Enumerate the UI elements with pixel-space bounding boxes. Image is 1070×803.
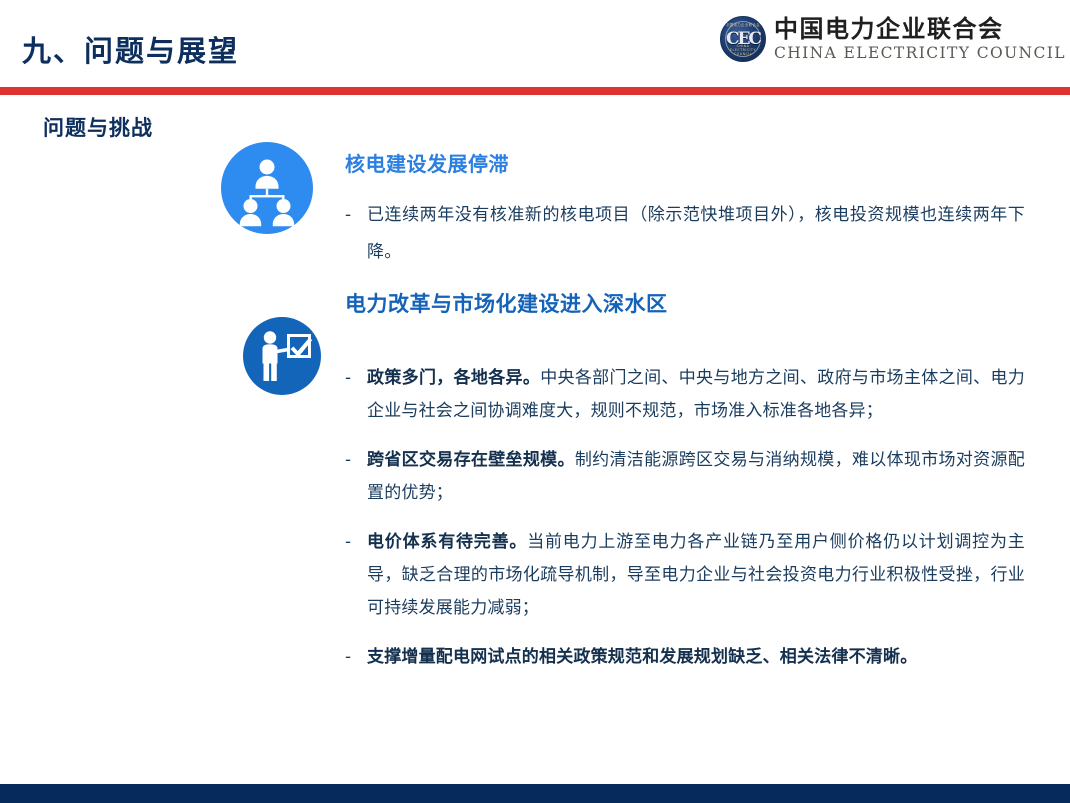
list-item: - 跨省区交易存在壁垒规模。制约清洁能源跨区交易与消纳规模，难以体现市场对资源配…	[345, 444, 1025, 510]
brand-name-en: CHINA ELECTRICITY COUNCIL	[774, 46, 1066, 62]
bullet-list: - 已连续两年没有核准新的核电项目（除示范快堆项目外），核电投资规模也连续两年下…	[345, 197, 1025, 271]
bullet-text-bold: 跨省区交易存在壁垒规模。	[367, 450, 575, 470]
bullet-dash: -	[345, 444, 367, 477]
bullet-text-bold: 电价体系有待完善。	[367, 532, 527, 552]
bullet-dash: -	[345, 641, 367, 674]
list-item: - 政策多门，各地各异。中央各部门之间、中央与地方之间、政府与市场主体之间、电力…	[345, 362, 1025, 428]
bullet-text-bold: 政策多门，各地各异。	[367, 368, 540, 388]
bullet-text: 跨省区交易存在壁垒规模。制约清洁能源跨区交易与消纳规模，难以体现市场对资源配置的…	[367, 444, 1025, 510]
bullet-text: 已连续两年没有核准新的核电项目（除示范快堆项目外），核电投资规模也连续两年下降。	[367, 197, 1025, 271]
section-label: 问题与挑战	[43, 112, 153, 142]
bullet-list: - 政策多门，各地各异。中央各部门之间、中央与地方之间、政府与市场主体之间、电力…	[345, 362, 1025, 674]
presenter-checklist-icon	[243, 317, 321, 395]
brand-logo: 中国电力企业联合会 CEC CHINA ELECTRICITY COUNCIL …	[720, 16, 1066, 62]
list-item: - 支撑增量配电网试点的相关政策规范和发展规划缺乏、相关法律不清晰。	[345, 641, 1025, 674]
bullet-text: 政策多门，各地各异。中央各部门之间、中央与地方之间、政府与市场主体之间、电力企业…	[367, 362, 1025, 428]
bullet-text-bold: 支撑增量配电网试点的相关政策规范和发展规划缺乏、相关法律不清晰。	[367, 647, 917, 667]
block-heading: 核电建设发展停滞	[345, 148, 1025, 177]
brand-name-cn: 中国电力企业联合会	[774, 17, 1066, 41]
seal-arc-bottom-text: CHINA ELECTRICITY COUNCIL	[724, 44, 762, 56]
block-heading: 电力改革与市场化建设进入深水区	[345, 288, 1025, 318]
bullet-dash: -	[345, 526, 367, 559]
cec-seal-icon: 中国电力企业联合会 CEC CHINA ELECTRICITY COUNCIL	[720, 16, 766, 62]
brand-text: 中国电力企业联合会 CHINA ELECTRICITY COUNCIL	[774, 17, 1066, 62]
list-item: - 已连续两年没有核准新的核电项目（除示范快堆项目外），核电投资规模也连续两年下…	[345, 197, 1025, 271]
header-red-rule	[0, 87, 1070, 95]
content-block-nuclear: 核电建设发展停滞 - 已连续两年没有核准新的核电项目（除示范快堆项目外），核电投…	[345, 148, 1025, 271]
footer-bar	[0, 784, 1070, 803]
list-item: - 电价体系有待完善。当前电力上游至电力各产业链乃至用户侧价格仍以计划调控为主导…	[345, 526, 1025, 625]
bullet-text: 支撑增量配电网试点的相关政策规范和发展规划缺乏、相关法律不清晰。	[367, 641, 1025, 674]
slide-canvas: 九、问题与展望 中国电力企业联合会 CEC CHINA ELECTRICITY …	[0, 0, 1070, 803]
bullet-text: 电价体系有待完善。当前电力上游至电力各产业链乃至用户侧价格仍以计划调控为主导，缺…	[367, 526, 1025, 625]
content-block-reform: 电力改革与市场化建设进入深水区 - 政策多门，各地各异。中央各部门之间、中央与地…	[345, 288, 1025, 674]
page-title: 九、问题与展望	[22, 28, 239, 70]
bullet-text-rest: 已连续两年没有核准新的核电项目（除示范快堆项目外），核电投资规模也连续两年下降。	[367, 205, 1025, 262]
bullet-dash: -	[345, 197, 367, 234]
people-group-icon	[221, 142, 313, 234]
bullet-dash: -	[345, 362, 367, 395]
